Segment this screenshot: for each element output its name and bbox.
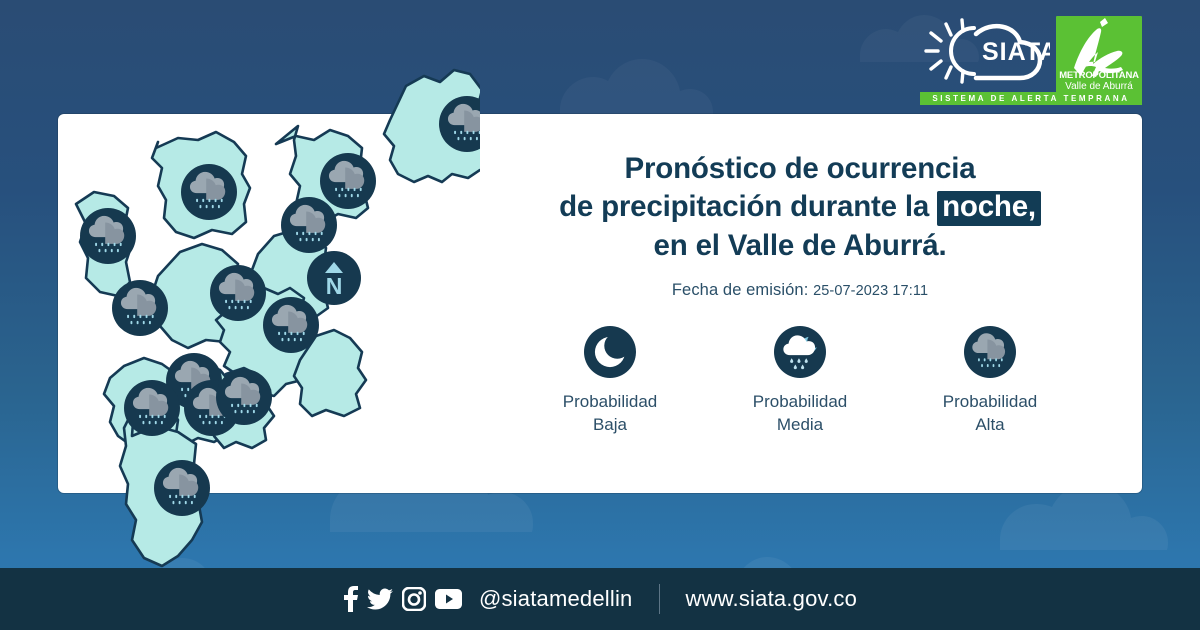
- map-marker-la-estrella[interactable]: [216, 369, 272, 425]
- legend-alta-line1: Probabilidad: [943, 392, 1038, 411]
- legend-baja-line1: Probabilidad: [563, 392, 658, 411]
- cloud-moon-rain-icon: [774, 326, 826, 378]
- area-metropolitana-logo: METROPOLITANA Valle de Aburrá: [1056, 16, 1142, 94]
- legend-label-alta: Probabilidad Alta: [943, 391, 1038, 436]
- map-marker-itagui[interactable]: [124, 380, 180, 436]
- north-label: N: [326, 273, 343, 299]
- legend-item-baja[interactable]: Probabilidad Baja: [515, 326, 705, 436]
- legend-media-line1: Probabilidad: [753, 392, 848, 411]
- legend-media-line2: Media: [777, 415, 823, 434]
- siata-wordmark: SIATA: [982, 38, 1050, 66]
- area-line2: Valle de Aburrá: [1065, 81, 1133, 92]
- probability-legend: Probabilidad Baja: [480, 326, 1120, 436]
- social-handle[interactable]: @siatamedellin: [479, 586, 633, 612]
- legend-label-media: Probabilidad Media: [753, 391, 848, 436]
- legend-alta-line2: Alta: [975, 415, 1004, 434]
- title-line-2-text: de precipitación durante la: [559, 190, 929, 223]
- map-marker-medellin[interactable]: [263, 297, 319, 353]
- legend-baja-line2: Baja: [593, 415, 627, 434]
- legend-item-alta[interactable]: Probabilidad Alta: [895, 326, 1085, 436]
- issue-date-label: Fecha de emisión:: [672, 281, 809, 299]
- siata-tagline-bar: SISTEMA DE ALERTA TEMPRANA: [920, 92, 1142, 105]
- siata-tagline-text: SISTEMA DE ALERTA TEMPRANA: [932, 94, 1129, 103]
- instagram-icon[interactable]: [402, 587, 426, 611]
- twitter-icon[interactable]: [367, 586, 393, 612]
- footer-divider: [659, 584, 660, 614]
- map-marker-san-jeronimo[interactable]: [80, 208, 136, 264]
- title-line-1: Pronóstico de ocurrencia: [480, 150, 1120, 188]
- siata-logo: SIATA: [920, 16, 1050, 86]
- map-marker-bello[interactable]: [210, 265, 266, 321]
- valle-de-aburra-map: N: [60, 40, 480, 580]
- map-marker-don-matias[interactable]: [181, 164, 237, 220]
- footer-bar: @siatamedellin www.siata.gov.co: [0, 568, 1200, 630]
- map-marker-girardota[interactable]: [320, 153, 376, 209]
- legend-label-baja: Probabilidad Baja: [563, 391, 658, 436]
- moon-icon: [584, 326, 636, 378]
- north-arrow-icon: N: [307, 251, 361, 305]
- title-highlight-noche: noche,: [937, 191, 1041, 226]
- forecast-text-block: Pronóstico de ocurrencia de precipitació…: [480, 150, 1120, 300]
- cloud-rain-icon: [964, 326, 1016, 378]
- infographic-canvas: N SIATA ME: [0, 0, 1200, 630]
- website-url[interactable]: www.siata.gov.co: [686, 586, 858, 612]
- social-icon-group: [343, 586, 462, 612]
- area-line1: METROPOLITANA: [1059, 70, 1139, 81]
- legend-item-media[interactable]: Probabilidad Media: [705, 326, 895, 436]
- facebook-icon[interactable]: [343, 586, 358, 612]
- title-line-2: de precipitación durante la noche,: [480, 188, 1120, 226]
- map-marker-san-pedro[interactable]: [112, 280, 168, 336]
- issue-date: Fecha de emisión: 25-07-2023 17:11: [480, 281, 1120, 300]
- issue-date-value: 25-07-2023 17:11: [813, 283, 928, 299]
- map-marker-copacabana[interactable]: [281, 197, 337, 253]
- youtube-icon[interactable]: [435, 589, 462, 609]
- title-line-3: en el Valle de Aburrá.: [480, 227, 1120, 265]
- logo-group: SIATA METROPOLITANA Valle de Aburrá: [920, 16, 1142, 94]
- page-title: Pronóstico de ocurrencia de precipitació…: [480, 150, 1120, 265]
- map-marker-caldas[interactable]: [154, 460, 210, 516]
